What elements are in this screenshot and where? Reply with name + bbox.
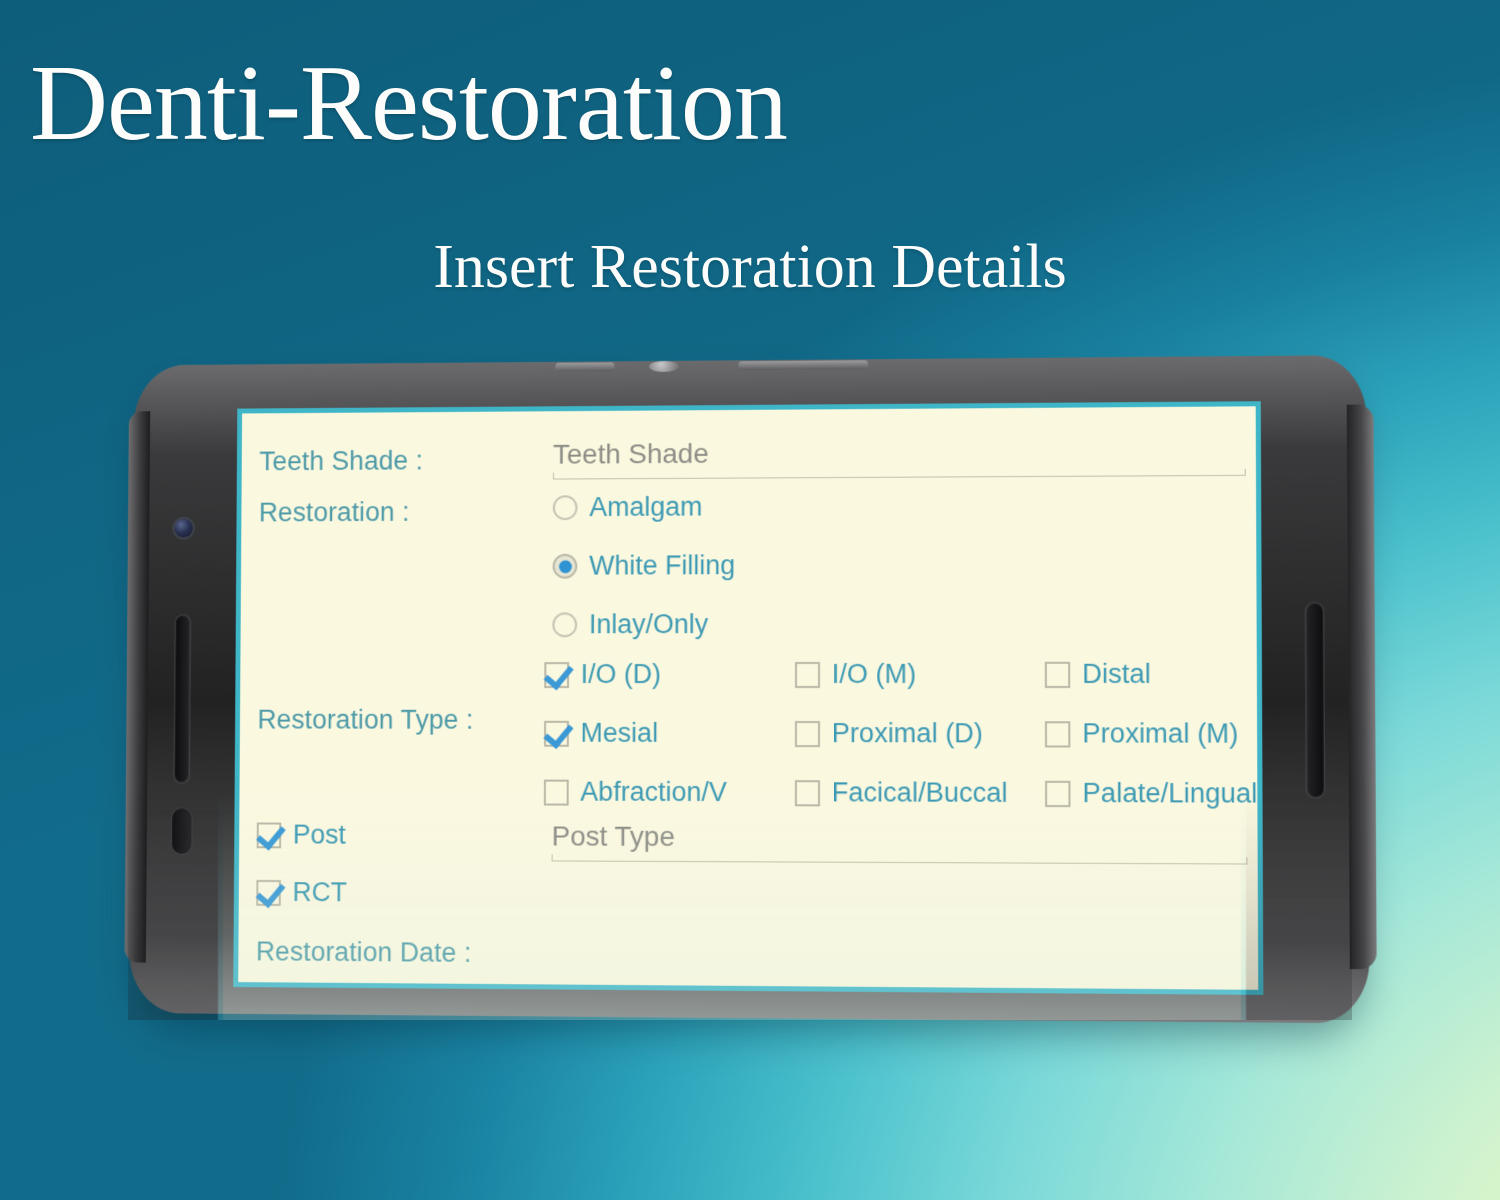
date-month-spinner[interactable]: Mar	[553, 978, 766, 994]
checkbox-option-palate-lingual[interactable]: Palate/Lingual	[1045, 778, 1258, 810]
checkbox-label-distal: Distal	[1082, 659, 1151, 690]
field-post: Post Post Type	[257, 820, 1248, 865]
app-form: Teeth Shade : Teeth Shade Restoration : …	[238, 406, 1258, 990]
right-speaker-grille	[1306, 603, 1324, 798]
checkbox-label-facical-buccal: Facical/Buccal	[832, 777, 1008, 809]
checkbox-icon-io-d[interactable]	[544, 662, 569, 688]
checkbox-icon-abfraction-v[interactable]	[544, 779, 569, 805]
phone-screen: Teeth Shade : Teeth Shade Restoration : …	[233, 401, 1263, 995]
radio-icon-amalgam[interactable]	[553, 495, 578, 520]
checkbox-option-post[interactable]: Post	[257, 820, 552, 852]
checkbox-label-io-m: I/O (M)	[832, 659, 916, 690]
radio-label-amalgam: Amalgam	[589, 492, 702, 523]
radio-option-inlay-only[interactable]: Inlay/Only	[552, 609, 735, 640]
checkbox-icon-post[interactable]	[257, 822, 282, 848]
checkbox-icon-io-m[interactable]	[795, 661, 820, 687]
teeth-shade-input-wrap[interactable]: Teeth Shade	[553, 435, 1246, 480]
phone-left-rim	[124, 411, 150, 962]
field-teeth-shade: Teeth Shade : Teeth Shade	[259, 435, 1246, 482]
checkbox-label-io-d: I/O (D)	[581, 659, 661, 690]
radio-icon-inlay-only[interactable]	[552, 612, 577, 637]
left-speaker-grille	[174, 615, 190, 783]
checkbox-icon-distal[interactable]	[1045, 661, 1070, 687]
checkbox-icon-mesial[interactable]	[544, 720, 569, 746]
checkbox-label-mesial: Mesial	[581, 718, 659, 749]
checkbox-label-proximal-d: Proximal (D)	[832, 718, 983, 749]
checkbox-icon-facical-buccal[interactable]	[795, 780, 820, 806]
checkbox-label-abfraction-v: Abfraction/V	[580, 777, 726, 808]
restoration-date-label: Restoration Date :	[256, 937, 472, 969]
post-type-input-wrap[interactable]: Post Type	[552, 821, 1248, 865]
phone-body: Teeth Shade : Teeth Shade Restoration : …	[136, 362, 1363, 1016]
page-title: Denti-Restoration	[30, 50, 787, 158]
checkbox-icon-rct[interactable]	[256, 879, 281, 905]
phone-right-rim	[1347, 404, 1377, 969]
power-button[interactable]	[649, 361, 679, 372]
post-type-input[interactable]: Post Type	[552, 821, 1248, 856]
page-subtitle: Insert Restoration Details	[0, 236, 1500, 298]
volume-button[interactable]	[555, 362, 614, 371]
radio-option-amalgam[interactable]: Amalgam	[553, 492, 736, 524]
top-trim	[738, 360, 868, 370]
radio-option-white-filling[interactable]: White Filling	[553, 550, 736, 581]
restoration-date-spinners[interactable]: Mar 10 2014	[553, 978, 1199, 994]
field-restoration-type: Restoration Type : I/O (D) I/O (M) Di	[257, 659, 1257, 810]
radio-label-white-filling: White Filling	[589, 550, 735, 581]
field-rct: RCT	[256, 877, 347, 908]
post-checkbox-wrap: Post	[257, 820, 552, 852]
checkbox-label-post: Post	[293, 820, 346, 851]
radio-icon-white-filling[interactable]	[553, 554, 578, 579]
checkbox-option-facical-buccal[interactable]: Facical/Buccal	[795, 777, 1045, 809]
checkbox-icon-proximal-m[interactable]	[1045, 721, 1070, 747]
checkbox-option-io-m[interactable]: I/O (M)	[795, 659, 1045, 690]
checkbox-option-rct[interactable]: RCT	[256, 877, 347, 908]
checkbox-label-rct: RCT	[292, 877, 347, 908]
checkbox-label-palate-lingual: Palate/Lingual	[1082, 778, 1257, 810]
checkbox-option-io-d[interactable]: I/O (D)	[544, 659, 795, 690]
date-year-spinner[interactable]: 2014	[981, 982, 1199, 995]
teeth-shade-input[interactable]: Teeth Shade	[553, 435, 1246, 471]
checkbox-label-proximal-m: Proximal (M)	[1082, 718, 1238, 750]
field-restoration: Restoration : Amalgam White Filling I	[258, 489, 1246, 641]
checkbox-icon-palate-lingual[interactable]	[1045, 780, 1070, 806]
left-secondary-grille	[172, 808, 192, 854]
date-day-spinner[interactable]: 10	[766, 980, 981, 995]
restoration-radio-group: Amalgam White Filling Inlay/Only	[552, 492, 735, 641]
radio-label-inlay-only: Inlay/Only	[589, 609, 708, 640]
checkbox-option-abfraction-v[interactable]: Abfraction/V	[544, 777, 795, 809]
front-camera-icon	[174, 519, 193, 538]
checkbox-option-mesial[interactable]: Mesial	[544, 718, 795, 749]
restoration-type-checkbox-grid: I/O (D) I/O (M) Distal Mesial	[544, 659, 1258, 810]
teeth-shade-label: Teeth Shade :	[259, 439, 553, 477]
restoration-type-label: Restoration Type :	[257, 659, 544, 736]
checkbox-icon-proximal-d[interactable]	[795, 721, 820, 747]
checkbox-option-proximal-d[interactable]: Proximal (D)	[795, 718, 1045, 749]
checkbox-option-distal[interactable]: Distal	[1045, 659, 1257, 690]
teeth-shade-underline	[553, 475, 1246, 480]
checkbox-option-proximal-m[interactable]: Proximal (M)	[1045, 718, 1257, 750]
restoration-label: Restoration :	[259, 492, 553, 528]
post-type-underline	[552, 860, 1248, 864]
phone-mockup: Teeth Shade : Teeth Shade Restoration : …	[118, 358, 1384, 1018]
